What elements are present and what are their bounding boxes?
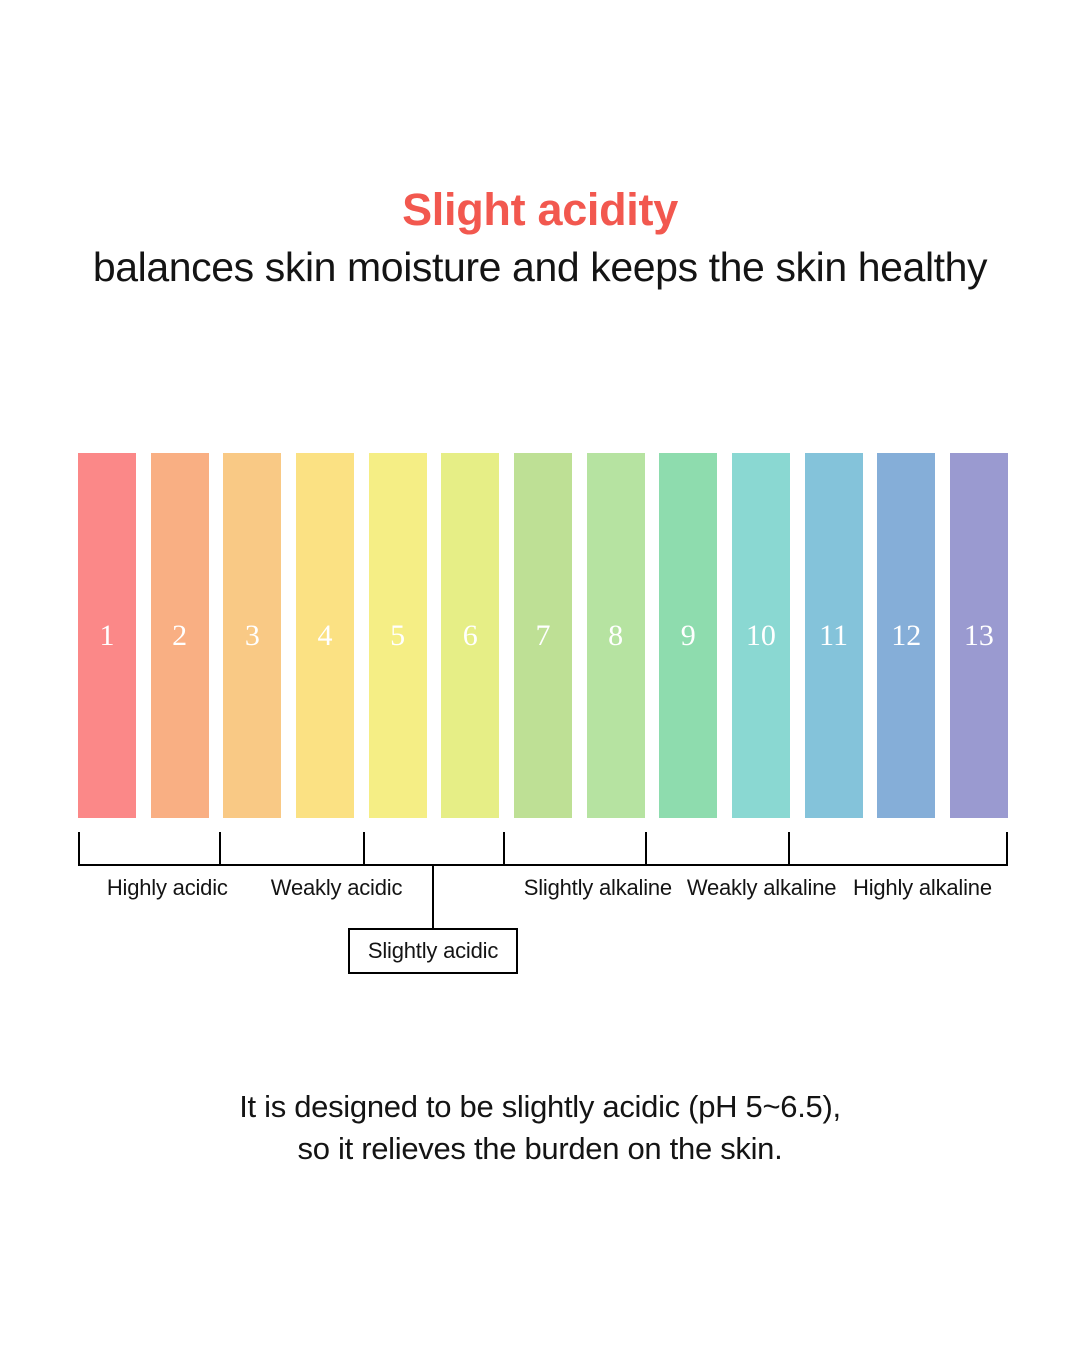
ph-bar: 8 xyxy=(587,453,645,818)
callout-label: Slightly acidic xyxy=(368,938,498,964)
ph-bar: 1 xyxy=(78,453,136,818)
axis-category-labels: Highly acidicWeakly acidicSlightly alkal… xyxy=(0,874,1080,904)
ph-bar-label: 9 xyxy=(681,621,696,651)
ph-bar: 13 xyxy=(950,453,1008,818)
ph-scale-chart: 12345678910111213 xyxy=(78,453,1008,818)
axis-category-label: Slightly alkaline xyxy=(524,874,672,902)
axis-category-label: Weakly acidic xyxy=(271,874,402,902)
ph-bar-label: 7 xyxy=(535,621,550,651)
header-block: Slight acidity balances skin moisture an… xyxy=(0,186,1080,290)
ph-bar-label: 4 xyxy=(317,621,332,651)
callout-connector-line xyxy=(432,864,434,928)
ph-bar: 3 xyxy=(223,453,281,818)
ph-axis-bracket xyxy=(78,832,1008,866)
axis-baseline xyxy=(78,864,1008,866)
slightly-acidic-callout: Slightly acidic xyxy=(348,928,518,974)
axis-tick xyxy=(788,832,790,864)
ph-bar-label: 12 xyxy=(891,621,921,651)
axis-tick xyxy=(78,832,80,864)
ph-bar: 5 xyxy=(369,453,427,818)
footer-block: It is designed to be slightly acidic (pH… xyxy=(0,1086,1080,1170)
footer-line-2: so it relieves the burden on the skin. xyxy=(0,1128,1080,1170)
footer-line-1: It is designed to be slightly acidic (pH… xyxy=(0,1086,1080,1128)
axis-tick xyxy=(645,832,647,864)
axis-category-label: Highly acidic xyxy=(107,874,228,902)
page-subtitle: balances skin moisture and keeps the ski… xyxy=(0,245,1080,290)
ph-bar: 10 xyxy=(732,453,790,818)
page-title: Slight acidity xyxy=(0,186,1080,233)
ph-bar-label: 2 xyxy=(172,621,187,651)
ph-bar: 9 xyxy=(659,453,717,818)
ph-bar-label: 10 xyxy=(746,621,776,651)
ph-bar-label: 5 xyxy=(390,621,405,651)
axis-tick xyxy=(1006,832,1008,864)
ph-bar-label: 11 xyxy=(819,621,848,651)
ph-bar-label: 8 xyxy=(608,621,623,651)
axis-category-label: Weakly alkaline xyxy=(687,874,836,902)
axis-tick xyxy=(219,832,221,864)
ph-bar-label: 1 xyxy=(100,621,115,651)
axis-tick xyxy=(363,832,365,864)
ph-bar: 12 xyxy=(877,453,935,818)
ph-bar: 7 xyxy=(514,453,572,818)
axis-tick xyxy=(503,832,505,864)
ph-bar: 2 xyxy=(151,453,209,818)
ph-bar: 6 xyxy=(441,453,499,818)
ph-bar: 4 xyxy=(296,453,354,818)
ph-bar-label: 13 xyxy=(964,621,994,651)
ph-bar-label: 6 xyxy=(463,621,478,651)
axis-category-label: Highly alkaline xyxy=(853,874,992,902)
ph-bar: 11 xyxy=(805,453,863,818)
ph-bar-label: 3 xyxy=(245,621,260,651)
